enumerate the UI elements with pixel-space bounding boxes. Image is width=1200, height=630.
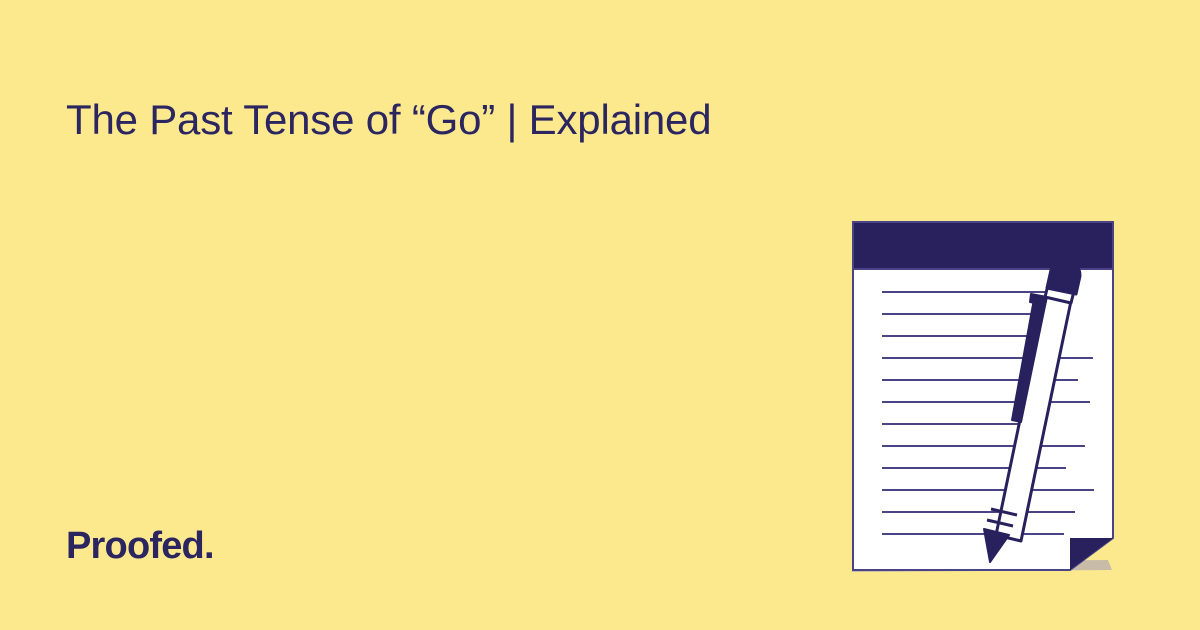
notepad-with-pencil-illustration [838, 208, 1130, 588]
pencil-cap [1047, 260, 1080, 294]
page-title: The Past Tense of “Go” | Explained [66, 96, 711, 144]
pencil-clip-top [1030, 294, 1047, 305]
notepad-svg [838, 208, 1130, 588]
og-image-canvas: The Past Tense of “Go” | Explained Proof… [0, 0, 1200, 630]
brand-logo: Proofed. [66, 524, 214, 570]
